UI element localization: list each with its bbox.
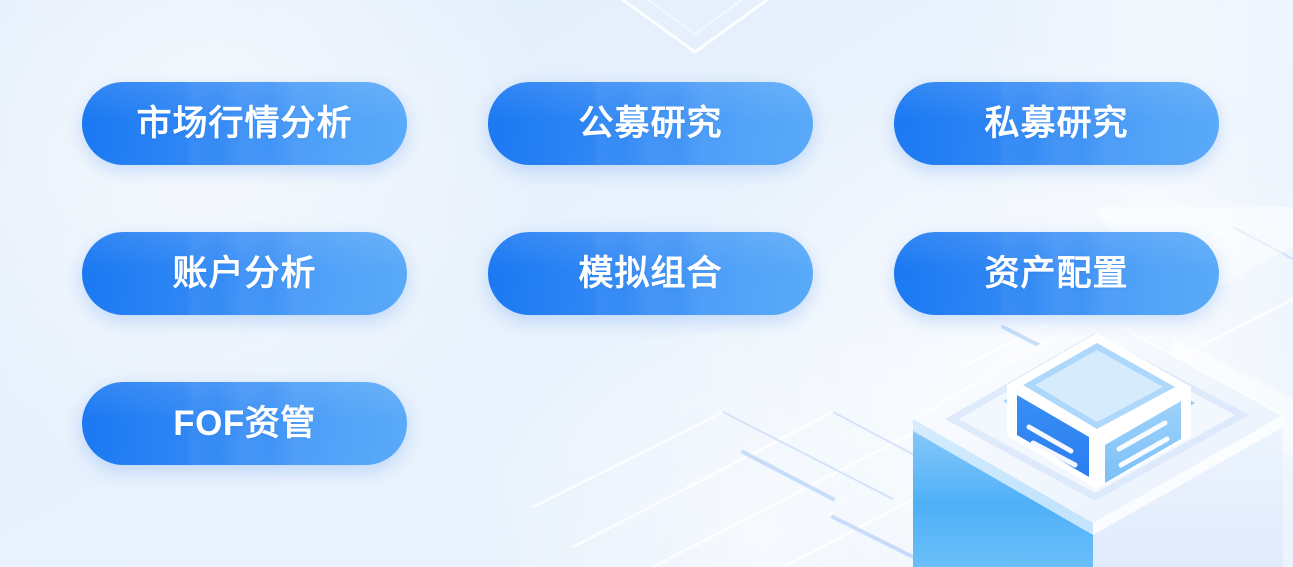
nav-button-label: 模拟组合 [578,256,722,291]
nav-button-private-fund-research[interactable]: 私募研究 [894,82,1219,165]
nav-button-account-analysis[interactable]: 账户分析 [82,232,407,315]
chevron-down-icon [530,0,860,80]
nav-button-label: 公募研究 [578,106,722,141]
nav-button-label: 市场行情分析 [136,106,352,141]
nav-button-fof-management[interactable]: FOF资管 [82,382,407,465]
nav-button-label: FOF资管 [173,406,315,441]
nav-button-label: 账户分析 [172,256,316,291]
nav-button-public-fund-research[interactable]: 公募研究 [488,82,813,165]
nav-button-market-analysis[interactable]: 市场行情分析 [82,82,407,165]
nav-button-simulated-portfolio[interactable]: 模拟组合 [488,232,813,315]
nav-button-label: 私募研究 [984,106,1128,141]
nav-button-label: 资产配置 [984,256,1128,291]
nav-button-grid: 市场行情分析 公募研究 私募研究 账户分析 模拟组合 资产配置 FOF资管 [82,82,1216,465]
nav-button-asset-allocation[interactable]: 资产配置 [894,232,1219,315]
page-root: 市场行情分析 公募研究 私募研究 账户分析 模拟组合 资产配置 FOF资管 [0,0,1293,567]
